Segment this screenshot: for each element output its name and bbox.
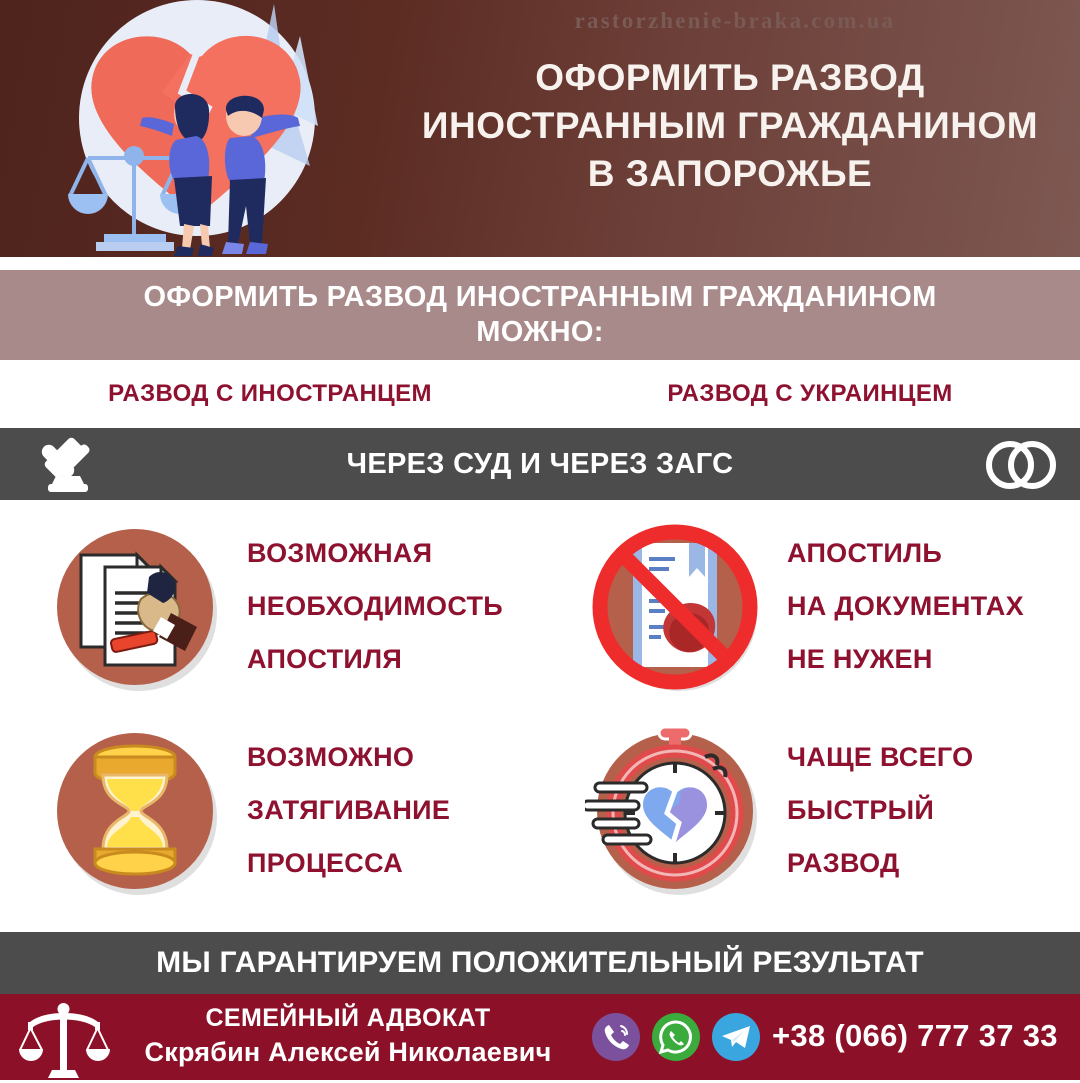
advocate-role: СЕМЕЙНЫЙ АДВОКАТ [128,1002,568,1034]
page-title-line-2: ИНОСТРАННЫМ ГРАЖДАНИНОМ [380,102,1080,150]
item-label: ЧАЩЕ ВСЕГО БЫСТРЫЙ РАЗВОД [787,731,973,890]
column-heading-foreigner: РАЗВОД С ИНОСТРАНЦЕМ [0,380,540,408]
documents-stamp-icon [45,517,225,697]
method-band-label: ЧЕРЕЗ СУД И ЧЕРЕЗ ЗАГС [347,448,734,481]
wedding-rings-icon [984,434,1058,496]
column-headings: РАЗВОД С ИНОСТРАНЦЕМ РАЗВОД С УКРАИНЦЕМ [0,360,1080,428]
broken-heart-couple-scales-illustration [42,0,352,257]
page-title: ОФОРМИТЬ РАЗВОД ИНОСТРАННЫМ ГРАЖДАНИНОМ … [380,54,1080,198]
header-banner: rastorzhenie-braka.com.ua ОФОРМИТЬ РАЗВО… [0,0,1080,257]
subtitle-text: ОФОРМИТЬ РАЗВОД ИНОСТРАННЫМ ГРАЖДАНИНОМ … [143,280,936,350]
comparison-rows: ВОЗМОЖНАЯ НЕОБХОДИМОСТЬ АПОСТИЛЯ [0,500,1080,925]
item-label-line-2: НА ДОКУМЕНТАХ [787,580,1024,633]
telegram-icon[interactable] [712,1013,760,1061]
comparison-row: ВОЗМОЖНО ЗАТЯГИВАНИЕ ПРОЦЕССА [0,708,1080,913]
item-label-line-1: АПОСТИЛЬ [787,527,1024,580]
viber-icon[interactable] [592,1013,640,1061]
scales-of-justice-icon [16,998,112,1078]
item-label-line-2: НЕОБХОДИМОСТЬ [247,580,503,633]
item-label: ВОЗМОЖНАЯ НЕОБХОДИМОСТЬ АПОСТИЛЯ [247,527,503,686]
method-band: ЧЕРЕЗ СУД И ЧЕРЕЗ ЗАГС [0,428,1080,500]
item-label-line-3: НЕ НУЖЕН [787,633,1024,686]
page-title-line-1: ОФОРМИТЬ РАЗВОД [380,54,1080,102]
stopwatch-broken-heart-icon [585,721,765,901]
infographic-page: rastorzhenie-braka.com.ua ОФОРМИТЬ РАЗВО… [0,0,1080,1080]
subtitle-band: ОФОРМИТЬ РАЗВОД ИНОСТРАННЫМ ГРАЖДАНИНОМ … [0,270,1080,360]
item-no-apostille: АПОСТИЛЬ НА ДОКУМЕНТАХ НЕ НУЖЕН [540,504,1080,709]
social-links [592,1013,760,1061]
method-band-label-wrap: ЧЕРЕЗ СУД И ЧЕРЕЗ ЗАГС [0,428,1080,500]
phone-number[interactable]: +38 (066) 777 37 33 [772,1018,1058,1054]
column-heading-ukrainian: РАЗВОД С УКРАИНЦЕМ [540,380,1080,408]
guarantee-band: МЫ ГАРАНТИРУЕМ ПОЛОЖИТЕЛЬНЫЙ РЕЗУЛЬТАТ [0,932,1080,994]
no-apostille-prohibited-icon [585,517,765,697]
item-label-line-1: ВОЗМОЖНО [247,731,450,784]
advocate-info: СЕМЕЙНЫЙ АДВОКАТ Скрябин Алексей Николае… [128,1002,568,1070]
item-label-line-3: РАЗВОД [787,837,973,890]
page-title-line-3: В ЗАПОРОЖЬЕ [380,150,1080,198]
whatsapp-icon[interactable] [652,1013,700,1061]
subtitle-line-1: ОФОРМИТЬ РАЗВОД ИНОСТРАННЫМ ГРАЖДАНИНОМ [143,280,936,315]
item-label-line-2: ЗАТЯГИВАНИЕ [247,784,450,837]
item-label-line-1: ВОЗМОЖНАЯ [247,527,503,580]
item-fast-divorce: ЧАЩЕ ВСЕГО БЫСТРЫЙ РАЗВОД [540,708,1080,913]
item-delay-process: ВОЗМОЖНО ЗАТЯГИВАНИЕ ПРОЦЕССА [0,708,540,913]
item-documents-apostille: ВОЗМОЖНАЯ НЕОБХОДИМОСТЬ АПОСТИЛЯ [0,504,540,709]
item-label-line-3: ПРОЦЕССА [247,837,450,890]
advocate-name: Скрябин Алексей Николаевич [128,1034,568,1070]
item-label-line-1: ЧАЩЕ ВСЕГО [787,731,973,784]
site-url: rastorzhenie-braka.com.ua [455,8,1015,34]
item-label: АПОСТИЛЬ НА ДОКУМЕНТАХ НЕ НУЖЕН [787,527,1024,686]
subtitle-line-2: МОЖНО: [143,315,936,350]
comparison-row: ВОЗМОЖНАЯ НЕОБХОДИМОСТЬ АПОСТИЛЯ [0,504,1080,709]
guarantee-text: МЫ ГАРАНТИРУЕМ ПОЛОЖИТЕЛЬНЫЙ РЕЗУЛЬТАТ [156,946,924,980]
item-label-line-3: АПОСТИЛЯ [247,633,503,686]
item-label-line-2: БЫСТРЫЙ [787,784,973,837]
hourglass-icon [45,721,225,901]
item-label: ВОЗМОЖНО ЗАТЯГИВАНИЕ ПРОЦЕССА [247,731,450,890]
